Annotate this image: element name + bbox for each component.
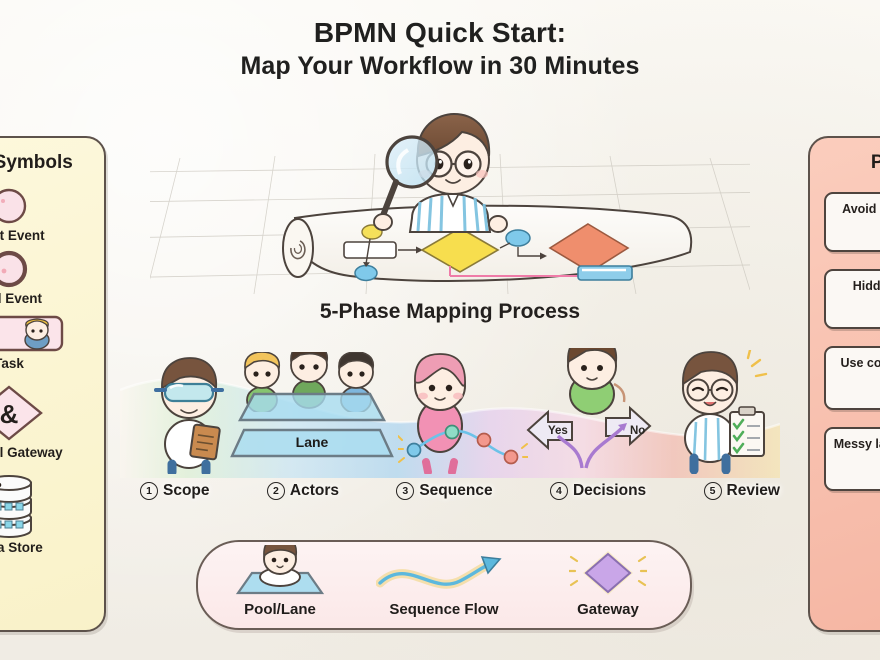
pool-lane-art [228,555,332,599]
symbol-parallel-gateway: & Parallel Gateway [0,383,104,460]
pitfalls-title: Pitfalls [810,152,880,174]
legend-item-gateway: Gateway [533,555,683,618]
legend-bar: Pool/Lane Sequence Flow [196,540,692,630]
phase-name-4: Decisions [573,482,646,500]
pitfalls-list: Avoid over-detailing Hidden handoffs Use… [824,192,880,508]
sequence-flow-art [376,555,512,599]
phase-name-2: Actors [290,482,339,500]
end-event-icon [0,249,32,289]
start-event-icon [0,186,32,226]
legend-items: Pool/Lane Sequence Flow [198,542,690,628]
section-heading: 5-Phase Mapping Process [150,300,750,324]
page-title: BPMN Quick Start: Map Your Workflow in 3… [0,16,880,81]
symbol-task: Task [0,312,104,371]
decision-no-label: No [630,425,645,437]
gateway-art [569,555,647,599]
core-symbols-panel: Core Symbols Start Event End Event [0,136,106,632]
core-symbols-title: Core Symbols [0,152,104,174]
pool-lane-icon [228,545,332,599]
symbol-end-event: End Event [0,249,104,306]
phase-icon-scope [146,352,232,474]
title-line-2: Map Your Workflow in 30 Minutes [0,51,880,81]
data-store-icon [0,474,43,538]
gateway-ampersand-glyph: & [0,399,18,429]
task-icon [0,312,65,354]
phase-number-2: 2 [267,482,285,500]
core-symbols-list: Start Event End Event Task [0,186,104,562]
start-event-label: Start Event [0,228,45,243]
data-store-label: Data Store [0,540,43,555]
legend-item-sequence-flow: Sequence Flow [369,555,519,618]
gateway-diamond-icon [569,547,647,599]
phase-label-review: 5 Review [704,482,780,500]
phase-number-4: 4 [550,482,568,500]
pitfall-card-4: Messy layout = defects [824,427,880,491]
pitfalls-panel: Pitfalls Avoid over-detailing Hidden han… [808,136,880,632]
pool-lane-label: Pool/Lane [244,601,316,618]
phase-label-sequence: 3 Sequence [396,482,492,500]
legend-item-pool-lane: Pool/Lane [205,555,355,618]
end-event-label: End Event [0,291,42,306]
hero-illustration [150,98,750,294]
phase-number-1: 1 [140,482,158,500]
gateway-label: Gateway [577,601,639,618]
pitfall-card-2: Hidden handoffs [824,269,880,329]
phase-label-row: 1 Scope 2 Actors 3 Sequence 4 Decisions … [140,476,780,506]
phase-name-1: Scope [163,482,210,500]
parallel-gateway-label: Parallel Gateway [0,445,63,460]
phase-lane-graphic: Lane [228,386,396,464]
phase-name-5: Review [727,482,780,500]
parallel-gateway-icon: & [0,383,45,443]
phase-label-scope: 1 Scope [140,482,210,500]
pitfall-card-3: Use correct symbols [824,346,880,410]
phase-number-3: 3 [396,482,414,500]
pitfall-card-1: Avoid over-detailing [824,192,880,252]
phase-icon-review [664,350,772,474]
lane-label: Lane [228,434,396,450]
phase-number-5: 5 [704,482,722,500]
lane-stack-svg [228,386,396,464]
phase-label-actors: 2 Actors [267,482,339,500]
phase-icon-decisions [520,348,660,474]
title-line-1: BPMN Quick Start: [0,16,880,49]
symbol-data-store: Data Store [0,474,104,555]
symbol-start-event: Start Event [0,186,104,243]
phase-icon-sequence [398,352,528,474]
sequence-flow-icon [376,551,512,599]
decision-yes-label: Yes [548,425,568,437]
sequence-flow-label: Sequence Flow [389,601,498,618]
phase-label-decisions: 4 Decisions [550,482,646,500]
infographic-canvas: BPMN Quick Start: Map Your Workflow in 3… [0,0,880,660]
task-label: Task [0,356,24,371]
hero-scene-svg [150,98,750,294]
phase-name-3: Sequence [419,482,492,500]
